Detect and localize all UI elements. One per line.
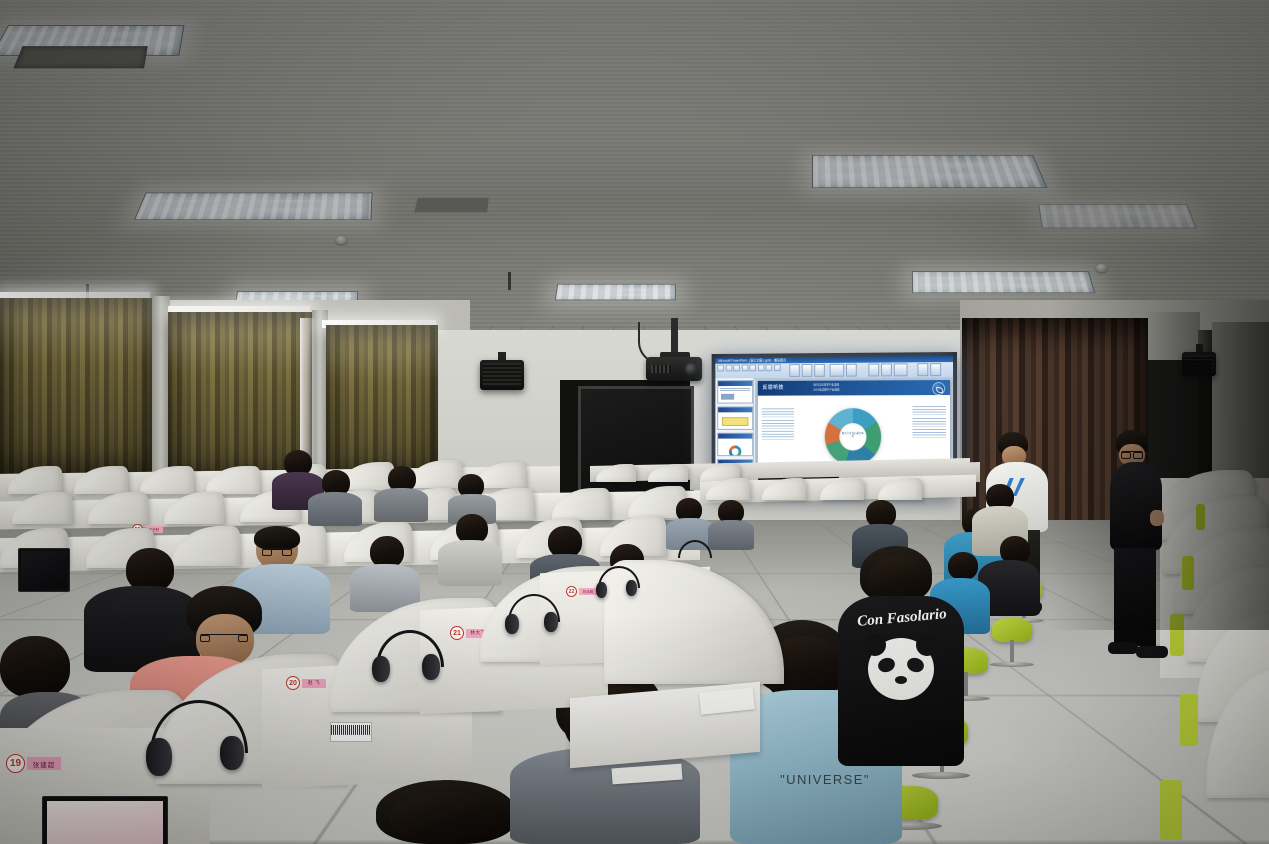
projector-mount-pole [671,318,678,356]
eyeglasses-icon [262,548,292,554]
wall-speaker [480,360,524,390]
task-chair[interactable] [992,618,1032,642]
station-name-tag: 刘伟明 [579,588,597,595]
right-side-shadow [1050,300,1269,630]
slide-callouts-right [912,406,946,438]
headphone-earcup [626,580,637,596]
chair-sliver [1160,780,1182,840]
station-number: 19 [6,754,25,773]
station-tag-20: 20 赵 飞 [286,676,326,690]
shirt-text: "UNIVERSE" [776,772,874,787]
ribbon-group-b [830,364,857,377]
seated-person-torso [374,488,428,522]
slide-header-band [758,380,950,396]
shirt-text: Con Fasolario [851,606,952,632]
station-monitor [42,796,168,844]
window-curtain [0,298,152,486]
ribbon-small-buttons [717,364,780,371]
slide-title: 反窃听技 [763,384,784,391]
seated-person-head [0,636,70,698]
slide-thumbnail[interactable] [717,380,753,404]
person-shoe [1108,642,1138,654]
station-name-tag: 赵 飞 [302,679,326,688]
ceiling-projector [646,357,702,381]
seated-person-head [948,552,978,580]
slide-thumbnail-donut[interactable] [717,433,753,456]
organization-emblem-icon [932,382,945,395]
person-shoe [1136,646,1168,658]
slide-thumbnail[interactable] [717,406,753,429]
ceiling [0,0,1269,340]
station-monitor [18,548,70,592]
station-number: 22 [566,586,577,597]
ribbon-group-a [789,364,825,377]
classroom-photo-scene: Microsoft PowerPoint - [演示文稿1.pptx] - 兼容… [0,0,1269,844]
headphone-earcup [372,656,390,682]
projector-lens-icon [685,363,697,375]
asset-barcode [330,722,372,742]
projector-vent-icon [651,365,671,373]
station-tag-19: 19 张建超 [6,754,61,773]
headphone-earcup [422,654,440,680]
panda-graphic-icon [868,638,934,700]
seated-person-torso [308,492,362,526]
eyeglasses-icon [200,634,248,643]
person-hair [254,526,300,550]
slide-callouts-left [762,408,794,439]
chair-base [990,662,1034,667]
station-number: 21 [450,626,464,640]
seated-person-head [390,792,506,844]
slide-subtitle-1: 电子信息技术产业发展 [813,383,839,388]
monitor-screen-content [47,801,163,844]
ribbon-group-c [868,363,907,376]
ribbon-group-d [917,363,941,376]
chair-base [912,772,970,779]
station-number: 20 [286,676,300,690]
station-tag-22: 22 刘伟明 [566,586,597,597]
chair-post [1010,640,1014,664]
headphone-earcup [596,582,607,598]
chair-sliver [1180,694,1198,746]
seated-person-torso [708,520,754,550]
person-torso: Con Fasolario [838,596,964,766]
headphone-earcup [220,736,244,770]
chair-post [964,672,968,698]
headphone-earcup [505,614,519,634]
donut-center-label: 数字产业 核心能力体系 [841,431,864,437]
headphone-earcup [146,738,172,776]
seated-person-torso [438,540,502,586]
slide-subtitle-2: 2019年度数字产业趋势 [813,388,840,393]
headphone-earcup [544,612,558,632]
station-name-tag: 张建超 [27,757,61,770]
